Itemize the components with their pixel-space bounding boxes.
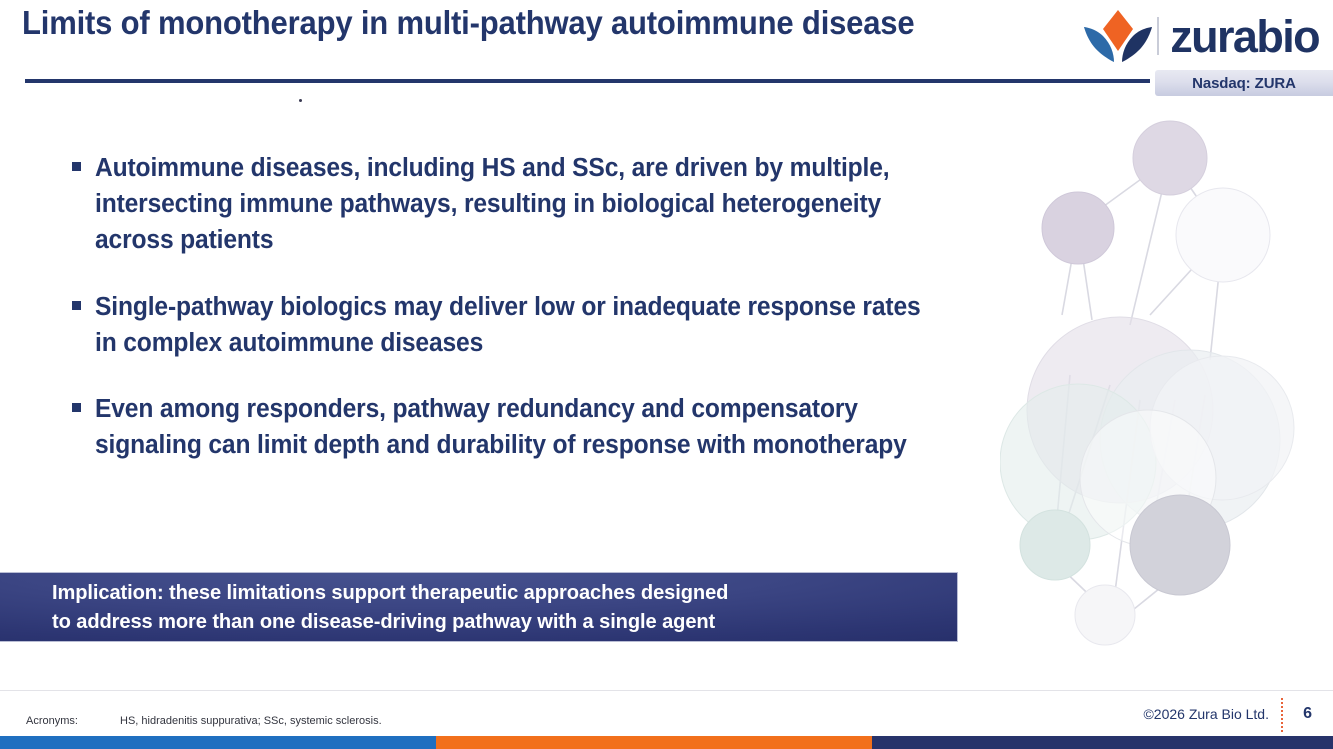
- implication-callout-banner: Implication: these limitations support t…: [0, 572, 958, 642]
- square-bullet-icon: [72, 162, 81, 171]
- brand-logo: zurabio: [1081, 8, 1319, 64]
- implication-line-2: to address more than one disease-driving…: [52, 607, 919, 636]
- square-bullet-icon: [72, 403, 81, 412]
- acronyms-label: Acronyms:: [26, 715, 78, 727]
- footer-dotted-divider: [1281, 698, 1283, 732]
- logo-divider: [1157, 17, 1159, 55]
- zurabio-leaf-logo-icon: [1081, 8, 1155, 64]
- nasdaq-ticker-badge: Nasdaq: ZURA: [1155, 70, 1333, 96]
- nasdaq-ticker-label: Nasdaq: ZURA: [1192, 75, 1296, 92]
- bullet-list: Autoimmune diseases, including HS and SS…: [72, 150, 952, 463]
- accent-bar-segment-navy: [872, 736, 1333, 749]
- page-title: Limits of monotherapy in multi-pathway a…: [22, 2, 924, 43]
- pathway-network-graphic: [1000, 110, 1333, 655]
- title-underline-rule: [25, 79, 1150, 83]
- slide-canvas: Limits of monotherapy in multi-pathway a…: [0, 0, 1333, 749]
- accent-bar-segment-blue: [0, 736, 436, 749]
- list-item: Autoimmune diseases, including HS and SS…: [72, 150, 952, 259]
- bullet-text: Single-pathway biologics may deliver low…: [95, 289, 922, 361]
- bottom-accent-bar: [0, 736, 1333, 749]
- logo-wordmark: zurabio: [1170, 14, 1319, 59]
- acronyms-value: HS, hidradenitis suppurativa; SSc, syste…: [120, 715, 382, 727]
- bullet-text: Autoimmune diseases, including HS and SS…: [95, 150, 922, 259]
- footer-divider-rule: [0, 690, 1333, 691]
- list-item: Even among responders, pathway redundanc…: [72, 391, 952, 463]
- copyright-notice: ©2026 Zura Bio Ltd.: [1143, 706, 1269, 722]
- implication-line-1: Implication: these limitations support t…: [52, 578, 919, 607]
- page-number: 6: [1303, 705, 1312, 723]
- list-item: Single-pathway biologics may deliver low…: [72, 289, 952, 361]
- bullet-text: Even among responders, pathway redundanc…: [95, 391, 922, 463]
- title-block: Limits of monotherapy in multi-pathway a…: [22, 2, 982, 43]
- square-bullet-icon: [72, 301, 81, 310]
- title-stray-dot: [299, 99, 302, 102]
- accent-bar-segment-orange: [436, 736, 872, 749]
